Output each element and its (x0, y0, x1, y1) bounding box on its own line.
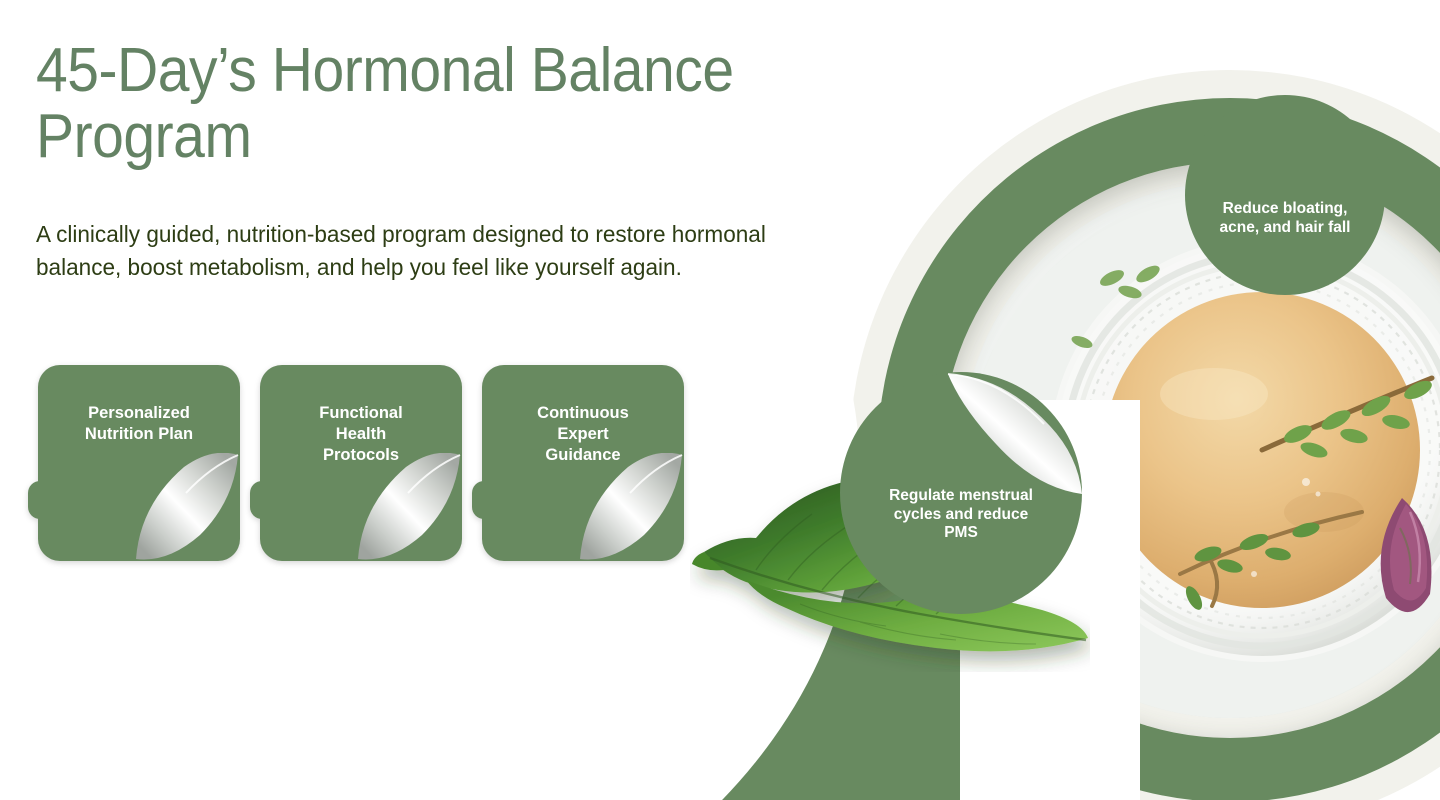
feature-card[interactable]: Personalized Nutrition Plan (38, 365, 240, 561)
page-curl-icon (130, 453, 242, 565)
feature-card[interactable]: Functional Health Protocols (260, 365, 462, 561)
card-left-notch (472, 481, 492, 519)
page-curl-icon (574, 453, 686, 565)
slide-canvas: Reduce bloating, acne, and hair fall Reg… (0, 0, 1440, 800)
page-subtitle: A clinically guided, nutrition-based pro… (36, 218, 842, 285)
benefit-bubble-label: Regulate menstrual cycles and reduce PMS (875, 487, 1047, 544)
feature-card-label: Continuous Expert Guidance (482, 403, 684, 465)
feature-card-list: Personalized Nutrition Plan (38, 365, 684, 561)
page-title: 45-Day’s Hormonal Balance Program (36, 38, 864, 169)
benefit-bubble-reduce-bloating[interactable]: Reduce bloating, acne, and hair fall (1185, 95, 1385, 295)
card-left-notch (28, 481, 48, 519)
card-left-notch (250, 481, 270, 519)
feature-card-label: Personalized Nutrition Plan (38, 403, 240, 445)
feature-card[interactable]: Continuous Expert Guidance (482, 365, 684, 561)
benefit-bubble-label: Reduce bloating, acne, and hair fall (1206, 200, 1365, 238)
feature-card-label: Functional Health Protocols (260, 403, 462, 465)
benefit-bubble-regulate-cycles[interactable]: Regulate menstrual cycles and reduce PMS (840, 372, 1082, 614)
page-curl-icon (352, 453, 464, 565)
